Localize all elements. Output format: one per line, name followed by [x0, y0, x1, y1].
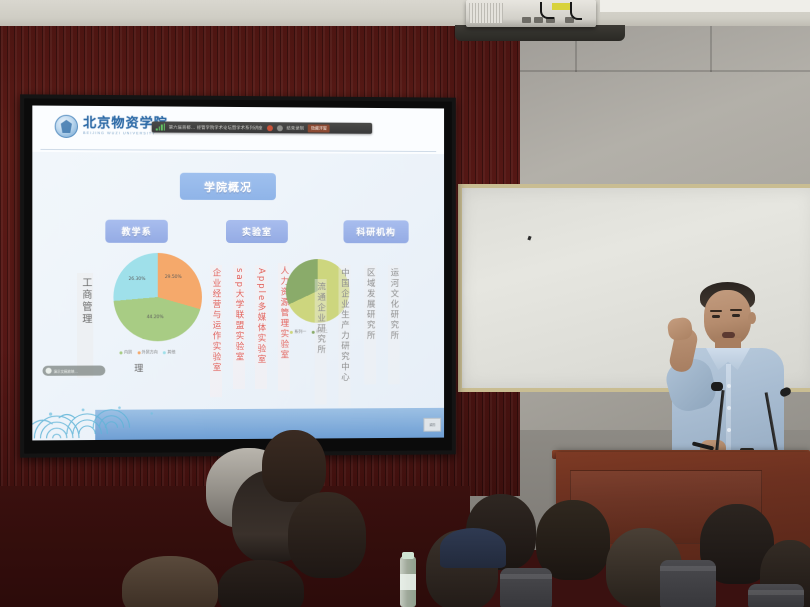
institute-label-2: 区域发展研究所 — [364, 265, 376, 384]
university-name-en: BEIJING WUZI UNIVERSITY — [83, 132, 168, 136]
slide-corner-tag[interactable]: 返回 — [423, 418, 441, 432]
play-icon — [46, 368, 52, 374]
projector-cable — [570, 2, 582, 20]
wave-decoration — [32, 382, 444, 440]
projection-screen: 北京物资学院 BEIJING WUZI UNIVERSITY 第六届首都… 经管… — [20, 94, 456, 457]
pie1-legend-1: 外贸方向 — [142, 349, 158, 355]
audience-head — [262, 430, 326, 502]
microphone-icon[interactable] — [277, 125, 283, 131]
category-research-institutes: 科研机构 — [343, 220, 408, 243]
wave-pattern-icon — [32, 383, 234, 440]
audience-head — [218, 560, 304, 607]
projector-mount — [455, 25, 625, 41]
recording-toolbar[interactable]: 第六届首都… 经管学院学术论坛暨学术系列讲座 结束录制 隐藏浮窗 — [152, 121, 372, 133]
ceiling-light-strip — [600, 0, 810, 12]
speaker-ear — [748, 312, 756, 324]
pie1-caption: 理 — [130, 359, 145, 383]
slideshow-button[interactable]: 演示文稿放映… — [42, 366, 105, 376]
slide-title: 学院概况 — [180, 173, 276, 200]
speaker — [666, 272, 790, 477]
whiteboard-mark — [527, 236, 531, 241]
pie1-slice-label-1: 29.50% — [165, 275, 182, 280]
toolbar-hide-button[interactable]: 隐藏浮窗 — [308, 124, 330, 132]
projector-label — [552, 3, 572, 10]
pie1-legend-2: 其他 — [167, 349, 175, 355]
audience-cap — [440, 528, 506, 568]
speaker-eye — [712, 315, 720, 318]
toolbar-status-text: 第六届首都… 经管学院学术论坛暨学术系列讲座 — [169, 124, 263, 131]
auditorium-seat — [748, 584, 804, 607]
lecture-hall-photo: 北京物资学院 BEIJING WUZI UNIVERSITY 第六届首都… 经管… — [0, 0, 810, 607]
auditorium-seat — [660, 560, 716, 607]
university-seal-icon — [55, 115, 78, 138]
slideshow-button-label: 演示文稿放映… — [54, 368, 78, 373]
projector-cable — [540, 2, 554, 19]
category-laboratories: 实验室 — [226, 220, 288, 243]
pie2-legend-0: 系列一 — [294, 329, 306, 335]
pie1-legend-0: 内贸 — [124, 349, 132, 355]
speaker-eye — [732, 314, 740, 317]
toolbar-record-label[interactable]: 结束录制 — [287, 125, 304, 131]
speaker-shirt-placket — [726, 364, 731, 464]
lab-label-2: Apple多媒体实验室 — [255, 265, 267, 389]
water-bottle-cap — [402, 552, 414, 559]
slide-body: 学院概况 教学系 实验室 科研机构 工商管理 29.50% 44.20% 26.… — [32, 152, 444, 441]
institute-label-3: 运河文化研究所 — [388, 265, 400, 384]
lab-label-0: 企业经营与运作实验室 — [210, 265, 222, 397]
slide-canvas: 北京物资学院 BEIJING WUZI UNIVERSITY 第六届首都… 经管… — [32, 106, 444, 441]
auditorium-seat — [500, 568, 552, 607]
lab-label-1: sap大学联盟实验室 — [233, 265, 245, 389]
pie-chart-teaching-departments — [113, 253, 202, 341]
record-stop-icon[interactable] — [267, 125, 273, 131]
category-teaching-departments: 教学系 — [105, 220, 168, 243]
microphone-head — [711, 382, 723, 391]
projector-vent — [469, 3, 503, 23]
ceiling-projector — [466, 0, 596, 27]
department-label-business-administration: 工商管理 — [77, 273, 93, 378]
water-bottle-label — [400, 574, 416, 590]
pie1-legend: 内贸 外贸方向 其他 — [119, 349, 175, 355]
audience-head — [288, 492, 366, 578]
signal-bars-icon — [156, 123, 165, 130]
pie1-slice-label-2: 26.30% — [129, 277, 146, 282]
pie1-slice-label-0: 44.20% — [147, 315, 164, 320]
